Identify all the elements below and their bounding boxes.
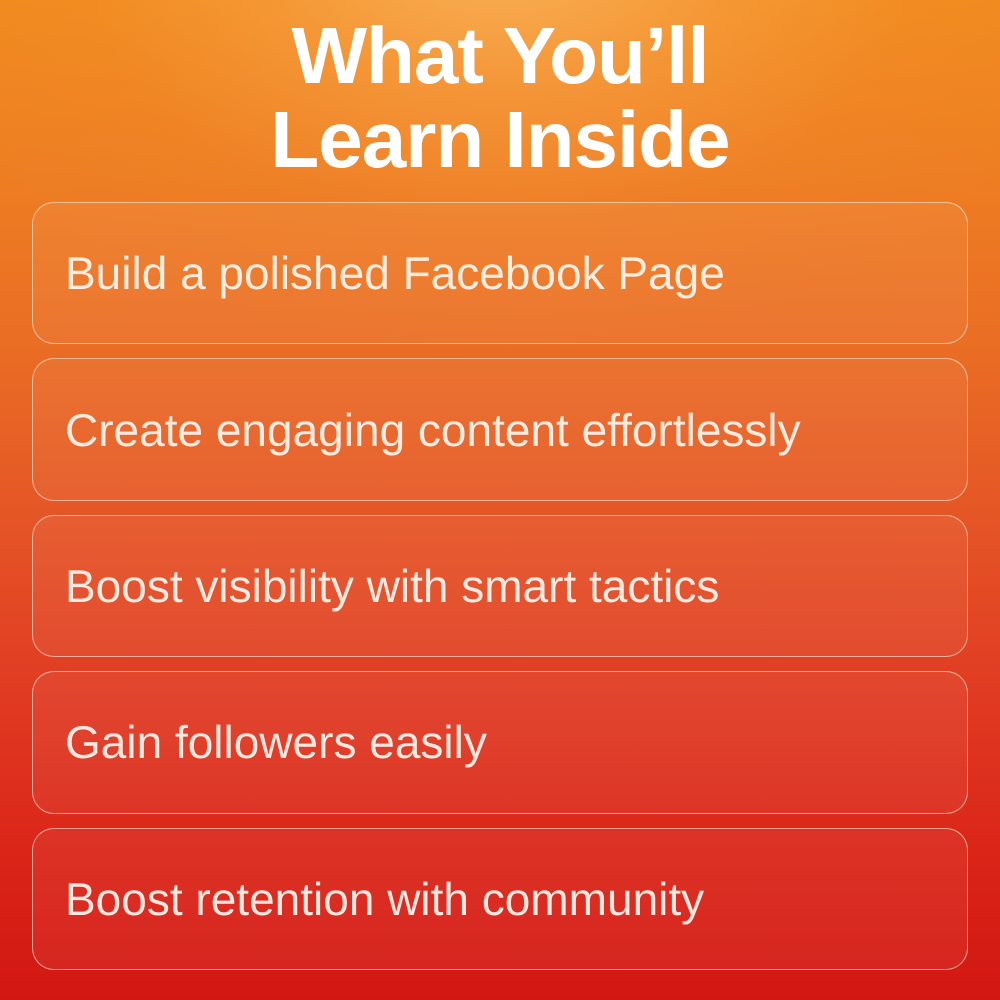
benefit-card-label: Gain followers easily <box>65 716 487 768</box>
benefit-card[interactable]: Boost retention with community <box>32 828 968 970</box>
benefit-card-label: Boost retention with community <box>65 873 704 925</box>
page-title-line-1: What You’ll <box>40 14 960 98</box>
poster-canvas: What You’ll Learn Inside Build a polishe… <box>0 0 1000 1000</box>
benefit-card[interactable]: Gain followers easily <box>32 671 968 813</box>
page-title: What You’ll Learn Inside <box>0 14 1000 182</box>
benefit-card[interactable]: Build a polished Facebook Page <box>32 202 968 344</box>
page-title-line-2: Learn Inside <box>40 98 960 182</box>
benefit-card[interactable]: Create engaging content effortlessly <box>32 358 968 500</box>
benefit-card-label: Boost visibility with smart tactics <box>65 560 719 612</box>
benefit-card-label: Build a polished Facebook Page <box>65 247 725 299</box>
benefit-card[interactable]: Boost visibility with smart tactics <box>32 515 968 657</box>
benefit-card-label: Create engaging content effortlessly <box>65 404 801 456</box>
benefit-card-list: Build a polished Facebook Page Create en… <box>32 202 968 970</box>
